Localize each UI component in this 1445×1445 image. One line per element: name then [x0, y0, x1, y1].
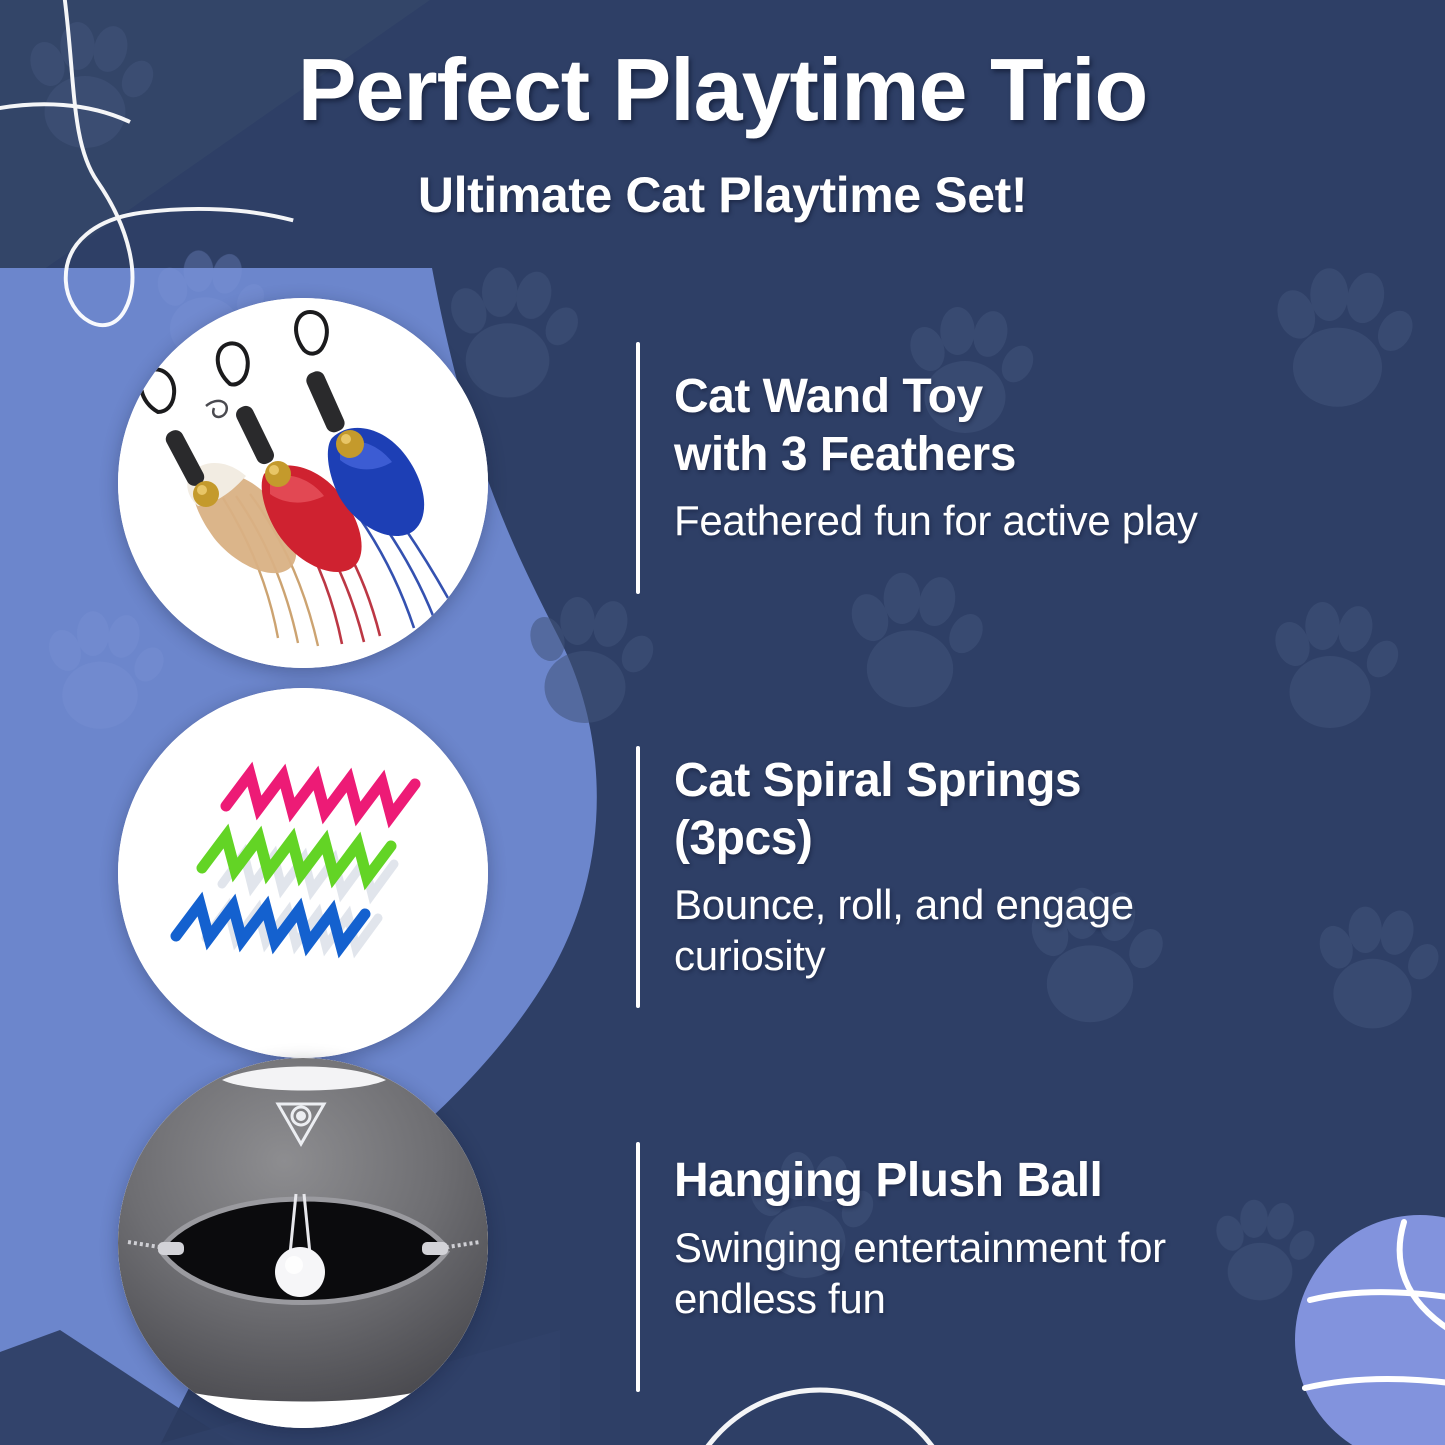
feature-divider-1 — [636, 342, 640, 594]
feature-heading-1-line1: Cat Wand Toy — [674, 368, 1198, 426]
page-title: Perfect Playtime Trio — [0, 46, 1445, 134]
feature-text-spiral-springs: Cat Spiral Springs (3pcs) Bounce, roll, … — [674, 752, 1134, 982]
feature-row-wand-toy — [118, 298, 488, 668]
feature-heading-3-line1: Hanging Plush Ball — [674, 1152, 1166, 1210]
feature-text-plush-ball: Hanging Plush Ball Swinging entertainmen… — [674, 1152, 1166, 1324]
feature-description-3-line1: Swinging entertainment for — [674, 1222, 1166, 1273]
feature-divider-2 — [636, 746, 640, 1008]
feature-description-3-line2: endless fun — [674, 1273, 1166, 1324]
feature-divider-3 — [636, 1142, 640, 1392]
feature-description-1: Feathered fun for active play — [674, 495, 1198, 546]
feature-heading-2-line2: (3pcs) — [674, 810, 1134, 868]
spring-green — [202, 836, 391, 878]
feature-description-2-line2: curiosity — [674, 930, 1134, 981]
feature-row-plush-ball — [118, 1058, 488, 1428]
header: Perfect Playtime Trio Ultimate Cat Playt… — [0, 0, 1445, 224]
product-image-wand-toy — [118, 298, 488, 668]
page-subtitle: Ultimate Cat Playtime Set! — [0, 166, 1445, 224]
infographic-canvas: Perfect Playtime Trio Ultimate Cat Playt… — [0, 0, 1445, 1445]
feature-heading-1-line2: with 3 Feathers — [674, 426, 1198, 484]
spring-blue — [176, 904, 365, 946]
feature-heading-2-line1: Cat Spiral Springs — [674, 752, 1134, 810]
product-image-plush-ball — [118, 1058, 488, 1428]
product-image-spiral-springs — [118, 688, 488, 1058]
feature-text-wand-toy: Cat Wand Toy with 3 Feathers Feathered f… — [674, 368, 1198, 546]
feature-description-2-line1: Bounce, roll, and engage — [674, 879, 1134, 930]
feature-row-spiral-springs — [118, 688, 488, 1058]
spring-pink — [226, 774, 415, 816]
